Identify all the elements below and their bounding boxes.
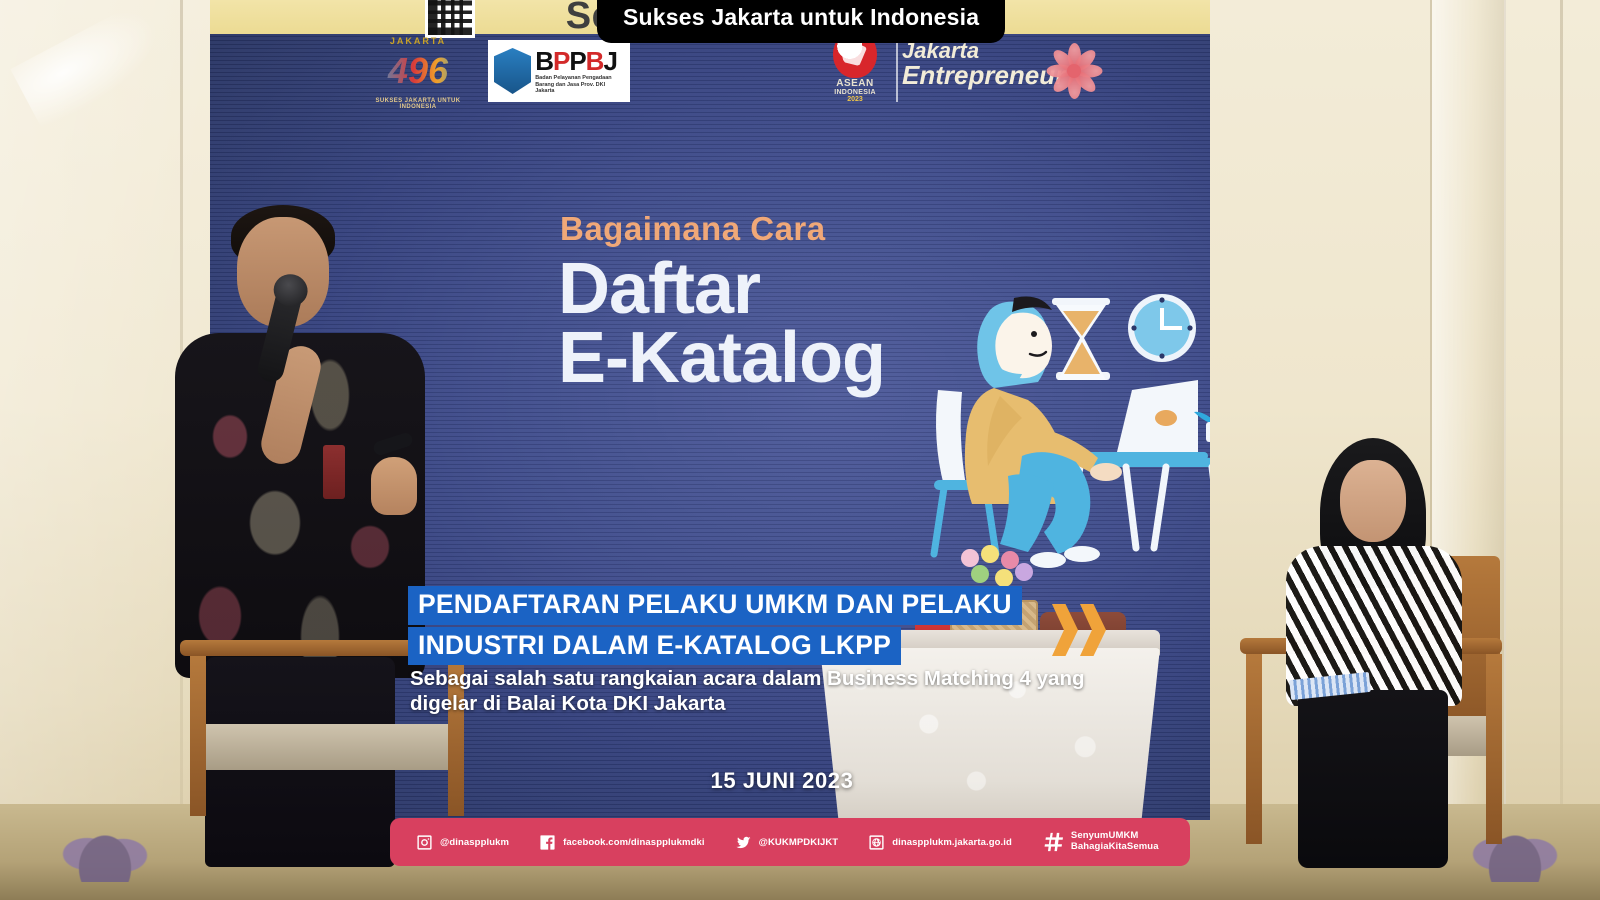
jakarta-logo-number: 496 bbox=[370, 50, 466, 92]
twitter-handle: @KUKMPDKIJKT bbox=[759, 837, 839, 848]
instagram-icon bbox=[416, 834, 433, 851]
headline-line-1: PENDAFTARAN PELAKU UMKM DAN PELAKU bbox=[408, 586, 1022, 625]
bppbj-wordmark: BPPBJ bbox=[535, 48, 624, 74]
website-icon bbox=[868, 834, 885, 851]
twitter-icon bbox=[735, 834, 752, 851]
woman-at-laptop-illustration bbox=[930, 270, 1210, 570]
event-date: 15 JUNI 2023 bbox=[0, 768, 1600, 794]
speaker-raised-hand bbox=[371, 457, 417, 515]
social-item-twitter[interactable]: @KUKMPDKIJKT bbox=[735, 834, 839, 851]
facebook-icon bbox=[539, 834, 556, 851]
website-url: dinaspplukm.jakarta.go.id bbox=[892, 837, 1012, 848]
laptop-icon bbox=[1076, 380, 1208, 460]
event-date-label: 15 JUNI 2023 bbox=[711, 768, 854, 793]
asean-country-label: INDONESIA bbox=[822, 89, 888, 96]
speaker-id-badge bbox=[323, 445, 345, 499]
hashtag-labels: SenyumUMKM BahagiaKitaSemua bbox=[1071, 831, 1159, 852]
dki-jakarta-seal-icon bbox=[494, 48, 531, 94]
hashtag-line-1: SenyumUMKM bbox=[1071, 830, 1139, 841]
bppbj-subtext-2: Barang dan Jasa Prov. DKI Jakarta bbox=[535, 83, 624, 94]
headline-block: PENDAFTARAN PELAKU UMKM DAN PELAKU INDUS… bbox=[408, 586, 1022, 665]
bppbj-subtext-1: Badan Pelayanan Pengadaan bbox=[535, 76, 624, 82]
wall-seam-right bbox=[1560, 0, 1563, 900]
logo-strip: JAKARTA 496 SUKSES JAKARTA UNTUK INDONES… bbox=[210, 34, 1210, 114]
subtitle-text: Sebagai salah satu rangkaian acara dalam… bbox=[410, 666, 1110, 717]
jakarta-logo-top-text: JAKARTA bbox=[370, 36, 466, 46]
batik-flower-logo bbox=[1038, 36, 1110, 106]
bppbj-logo: BPPBJ Badan Pelayanan Pengadaan Barang d… bbox=[488, 40, 630, 102]
headline-line-2: INDUSTRI DALAM E-KATALOG LKPP bbox=[408, 627, 901, 666]
hashtag-icon bbox=[1042, 831, 1064, 853]
slide-title-line1: Daftar bbox=[558, 255, 885, 324]
slide-title: Daftar E-Katalog bbox=[558, 255, 885, 393]
qr-code bbox=[425, 0, 475, 38]
decor-plant-left bbox=[60, 812, 150, 882]
batik-flower-center bbox=[1067, 64, 1081, 78]
social-item-facebook[interactable]: facebook.com/dinaspplukmdki bbox=[539, 834, 705, 851]
logo-divider bbox=[896, 36, 898, 102]
woman-face bbox=[1340, 460, 1406, 542]
social-item-instagram[interactable]: @dinaspplukm bbox=[416, 834, 509, 851]
jakarta-logo-subtext: SUKSES JAKARTA UNTUK INDONESIA bbox=[370, 98, 466, 110]
hourglass-icon bbox=[1052, 298, 1110, 380]
jakarta-anniversary-logo: JAKARTA 496 SUKSES JAKARTA UNTUK INDONES… bbox=[370, 36, 466, 110]
screenshot-stage: Sesi Presentasi JAKARTA 496 SUKSES JAKAR… bbox=[0, 0, 1600, 900]
asean-label: ASEAN bbox=[822, 78, 888, 89]
slide-kicker: Bagaimana Cara bbox=[560, 210, 826, 248]
hashtag-line-2: BahagiaKitaSemua bbox=[1071, 841, 1159, 852]
social-item-hashtag[interactable]: SenyumUMKM BahagiaKitaSemua bbox=[1042, 831, 1159, 853]
woman-seated bbox=[1258, 438, 1498, 868]
chair-left-seat bbox=[196, 724, 458, 770]
asean-year-label: 2023 bbox=[822, 96, 888, 103]
tagline-chip: Sukses Jakarta untuk Indonesia bbox=[597, 0, 1005, 43]
social-item-website[interactable]: dinaspplukm.jakarta.go.id bbox=[868, 834, 1012, 851]
facebook-handle: facebook.com/dinaspplukmdki bbox=[563, 837, 705, 848]
slide-title-line2: E-Katalog bbox=[558, 324, 885, 393]
instagram-handle: @dinaspplukm bbox=[440, 837, 509, 848]
clock-icon bbox=[1128, 294, 1196, 362]
social-media-bar: @dinaspplukm facebook.com/dinaspplukmdki… bbox=[390, 818, 1190, 866]
